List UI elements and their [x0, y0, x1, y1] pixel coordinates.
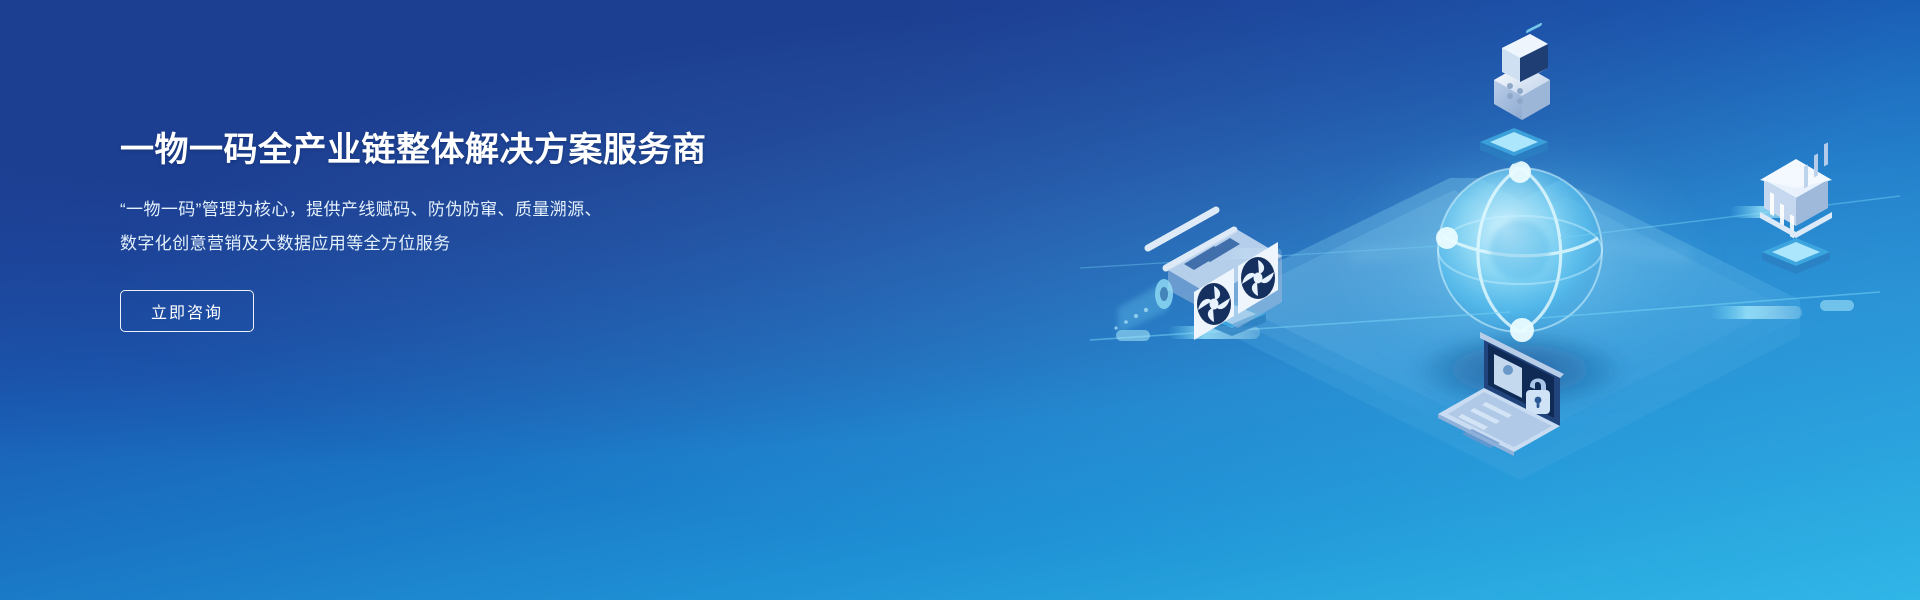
hero-subtitle: “一物一码”管理为核心，提供产线赋码、防伪防窜、质量溯源、 数字化创意营销及大数…: [120, 193, 760, 259]
pos-terminal-icon: [1494, 22, 1550, 120]
illustration-container: [920, 0, 1920, 600]
page-title: 一物一码全产业链整体解决方案服务商: [120, 130, 760, 171]
subtitle-line-2: 数字化创意营销及大数据应用等全方位服务: [120, 227, 760, 260]
subtitle-line-1: “一物一码”管理为核心，提供产线赋码、防伪防窜、质量溯源、: [120, 193, 760, 226]
consult-now-button[interactable]: 立即咨询: [120, 290, 254, 332]
hero-banner: 一物一码全产业链整体解决方案服务商 “一物一码”管理为核心，提供产线赋码、防伪防…: [0, 0, 1920, 600]
bank-building-icon: [1760, 142, 1832, 238]
hero-copy: 一物一码全产业链整体解决方案服务商 “一物一码”管理为核心，提供产线赋码、防伪防…: [120, 130, 760, 332]
